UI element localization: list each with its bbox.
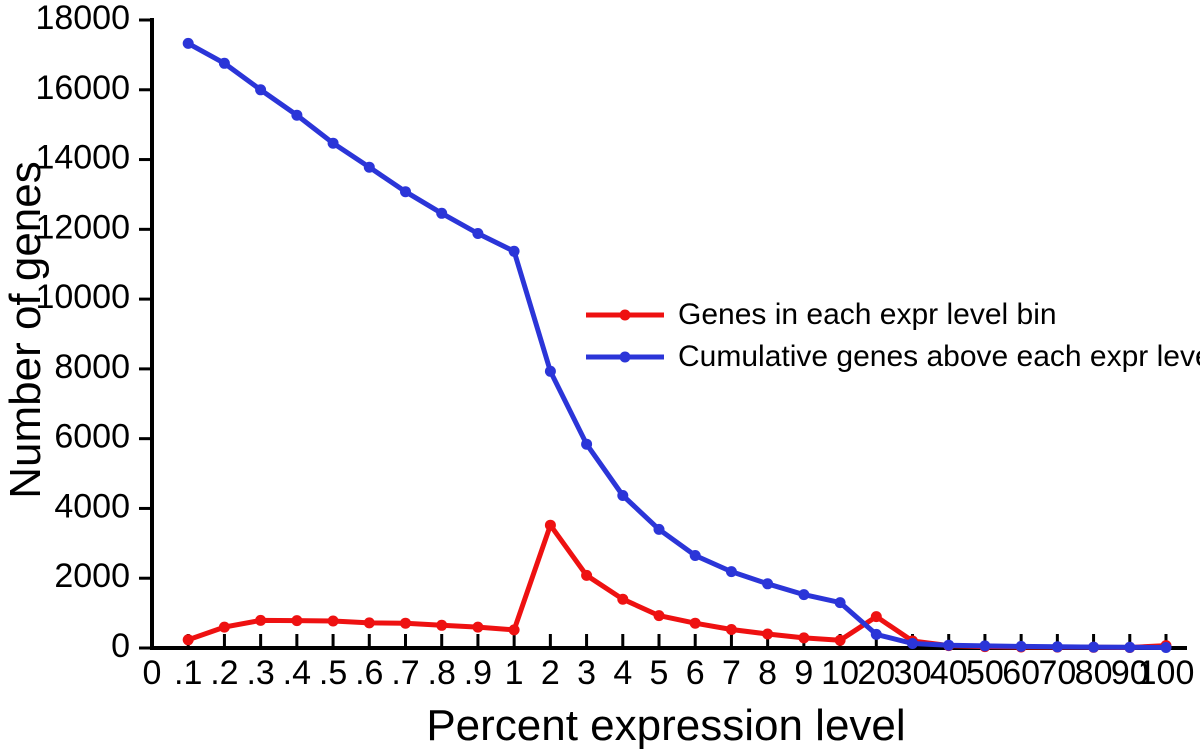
x-tick-label: 8	[758, 654, 777, 692]
legend-label: Genes in each expr level bin	[678, 298, 1057, 331]
x-tick-label: 30	[894, 654, 932, 692]
chart-legend: Genes in each expr level binCumulative g…	[586, 298, 1200, 373]
data-point-marker	[400, 186, 411, 197]
data-point-marker	[436, 208, 447, 219]
data-point-marker	[1016, 641, 1027, 652]
x-tick-label: .9	[464, 654, 492, 692]
x-axis-title: Percent expression level	[426, 701, 905, 750]
x-tick-label: .5	[319, 654, 347, 692]
data-point-marker	[291, 110, 302, 121]
data-point-marker	[835, 635, 846, 646]
data-point-marker	[654, 610, 665, 621]
legend-item[interactable]: Cumulative genes above each expr level	[586, 340, 1200, 373]
x-tick-label: .3	[246, 654, 274, 692]
data-point-marker	[798, 589, 809, 600]
data-point-marker	[726, 566, 737, 577]
data-point-marker	[654, 524, 665, 535]
data-point-marker	[690, 618, 701, 629]
x-tick-label: .4	[283, 654, 311, 692]
data-point-marker	[871, 611, 882, 622]
axis-lines	[152, 20, 1185, 648]
x-tick-label: 10	[821, 654, 859, 692]
x-tick-label: .1	[174, 654, 202, 692]
x-tick-label: 1	[505, 654, 524, 692]
data-point-marker	[219, 58, 230, 69]
legend-label: Cumulative genes above each expr level	[678, 340, 1200, 373]
data-point-marker	[762, 629, 773, 640]
data-point-marker	[509, 246, 520, 257]
y-tick-label: 18000	[35, 0, 130, 37]
data-point-marker	[1052, 641, 1063, 652]
data-point-marker	[364, 617, 375, 628]
x-tick-labels: 0.1.2.3.4.5.6.7.8.9123456789102030405060…	[143, 654, 1195, 692]
data-point-marker	[690, 550, 701, 561]
x-tick-label: 40	[930, 654, 968, 692]
data-point-marker	[183, 634, 194, 645]
y-tick-label: 2000	[54, 557, 130, 595]
legend-item[interactable]: Genes in each expr level bin	[586, 298, 1057, 331]
data-point-marker	[581, 439, 592, 450]
x-tick-label: 2	[541, 654, 560, 692]
x-tick-label: 3	[577, 654, 596, 692]
data-point-marker	[835, 597, 846, 608]
x-tick-label: 100	[1138, 654, 1195, 692]
data-point-marker	[219, 622, 230, 633]
x-tick-label: 0	[143, 654, 162, 692]
data-point-marker	[871, 629, 882, 640]
data-point-marker	[581, 570, 592, 581]
legend-swatch-marker	[620, 352, 631, 363]
x-tick-label: .2	[210, 654, 238, 692]
data-point-marker	[255, 84, 266, 95]
x-tick-label: .7	[391, 654, 419, 692]
data-point-marker	[545, 520, 556, 531]
data-point-marker	[545, 366, 556, 377]
data-point-marker	[436, 620, 447, 631]
data-point-marker	[509, 624, 520, 635]
data-point-marker	[762, 578, 773, 589]
data-point-marker	[291, 615, 302, 626]
x-tick-label: 60	[1002, 654, 1040, 692]
data-point-marker	[472, 622, 483, 633]
axis-spine	[152, 20, 1185, 648]
data-point-marker	[183, 38, 194, 49]
x-tick-label: 9	[794, 654, 813, 692]
x-tick-label: 20	[857, 654, 895, 692]
chart-figure: 0200040006000800010000120001400016000180…	[0, 0, 1200, 754]
legend-swatch-marker	[620, 310, 631, 321]
data-point-marker	[943, 640, 954, 651]
y-axis-title: Number of genes	[1, 161, 50, 499]
data-point-marker	[1124, 642, 1135, 653]
data-point-marker	[726, 624, 737, 635]
data-point-marker	[400, 618, 411, 629]
line-chart-canvas: 0200040006000800010000120001400016000180…	[0, 0, 1200, 754]
y-tick-label: 0	[111, 627, 130, 665]
x-tick-label: 5	[650, 654, 669, 692]
x-tick-label: 70	[1038, 654, 1076, 692]
data-point-marker	[364, 162, 375, 173]
x-tick-label: 6	[686, 654, 705, 692]
x-tick-label: .8	[428, 654, 456, 692]
x-tick-label: 4	[613, 654, 632, 692]
x-tick-label: 80	[1075, 654, 1113, 692]
data-point-marker	[1088, 642, 1099, 653]
y-tick-label: 8000	[54, 348, 130, 386]
y-tick-label: 16000	[35, 69, 130, 107]
x-tick-label: 7	[722, 654, 741, 692]
data-point-marker	[472, 228, 483, 239]
data-point-marker	[617, 490, 628, 501]
data-point-marker	[617, 594, 628, 605]
y-tick-label: 4000	[54, 487, 130, 525]
data-point-marker	[328, 616, 339, 627]
data-point-marker	[979, 640, 990, 651]
x-tick-label: 50	[966, 654, 1004, 692]
data-point-marker	[328, 138, 339, 149]
x-tick-label: .6	[355, 654, 383, 692]
data-point-marker	[907, 638, 918, 649]
data-point-marker	[1161, 642, 1172, 653]
data-point-marker	[798, 632, 809, 643]
y-tick-label: 6000	[54, 418, 130, 456]
data-point-marker	[255, 615, 266, 626]
